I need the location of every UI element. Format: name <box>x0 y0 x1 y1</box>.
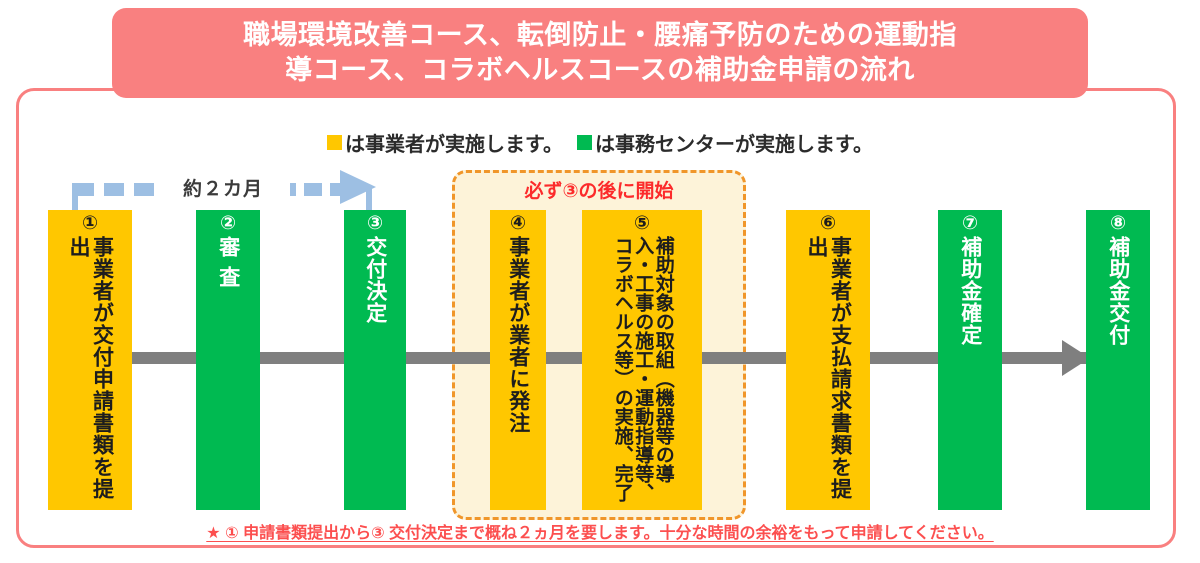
step-number-8: ⑧ <box>1110 214 1126 235</box>
step-label-8: 補助金交付 <box>1106 236 1130 346</box>
step-label-5: 補助対象の取組（機器等の導入・工事の施工・運動指導等、コラボヘルス等）の実施、完… <box>611 236 673 504</box>
blue-dash-5 <box>304 183 322 196</box>
step-box-6[interactable]: ⑥ 事業者が支払請求書類を提出 <box>786 210 870 510</box>
step-label-1: 事業者が交付申請書類を提出 <box>66 236 113 504</box>
title-banner: 職場環境改善コース、転倒防止・腰痛予防のための運動指 導コース、コラボヘルスコー… <box>112 8 1088 98</box>
blue-dash-3 <box>134 183 154 196</box>
step-box-2[interactable]: ② 審査 <box>196 210 260 510</box>
step-number-1: ① <box>82 214 98 235</box>
step-number-3: ③ <box>367 214 383 235</box>
legend-item-business: は事業者が実施します。 <box>327 128 563 157</box>
step-number-4: ④ <box>510 214 526 235</box>
legend-swatch-green-icon <box>577 135 592 150</box>
page-title: 職場環境改善コース、転倒防止・腰痛予防のための運動指 導コース、コラボヘルスコー… <box>243 18 957 88</box>
step-box-4[interactable]: ④ 事業者が業者に発注 <box>490 210 546 510</box>
step-box-3[interactable]: ③ 交付決定 <box>344 210 406 510</box>
footnote: ★ ① 申請書類提出から③ 交付決定まで概ね２ヵ月を要します。十分な時間の余裕を… <box>30 519 1170 543</box>
legend-label-business: は事業者が実施します。 <box>345 128 563 157</box>
step-number-6: ⑥ <box>820 214 836 235</box>
step-box-1[interactable]: ① 事業者が交付申請書類を提出 <box>48 210 132 510</box>
step-label-7: 補助金確定 <box>958 236 982 346</box>
diagram-root: 職場環境改善コース、転倒防止・腰痛予防のための運動指 導コース、コラボヘルスコー… <box>0 0 1200 563</box>
step-number-2: ② <box>220 214 236 235</box>
blue-dash-2 <box>104 183 124 196</box>
blue-dash-4 <box>290 183 296 196</box>
step-label-2: 審査 <box>216 236 240 296</box>
legend-label-center: は事務センターが実施します。 <box>595 128 873 157</box>
step-box-7[interactable]: ⑦ 補助金確定 <box>938 210 1002 510</box>
legend-swatch-yellow-icon <box>327 135 342 150</box>
duration-label: 約２カ月 <box>160 174 286 201</box>
step-label-3: 交付決定 <box>363 236 387 324</box>
step-label-4: 事業者が業者に発注 <box>506 236 530 434</box>
step-box-5[interactable]: ⑤ 補助対象の取組（機器等の導入・工事の施工・運動指導等、コラボヘルス等）の実施… <box>582 210 702 510</box>
step-label-6: 事業者が支払請求書類を提出 <box>804 236 851 504</box>
step-number-7: ⑦ <box>962 214 978 235</box>
legend: は事業者が実施します。 は事務センターが実施します。 <box>0 128 1200 157</box>
step-box-8[interactable]: ⑧ 補助金交付 <box>1086 210 1150 510</box>
blue-dash-1 <box>72 183 94 196</box>
highlight-note: 必ず③の後に開始 <box>452 176 746 203</box>
step-number-5: ⑤ <box>634 214 650 235</box>
legend-item-center: は事務センターが実施します。 <box>577 128 873 157</box>
